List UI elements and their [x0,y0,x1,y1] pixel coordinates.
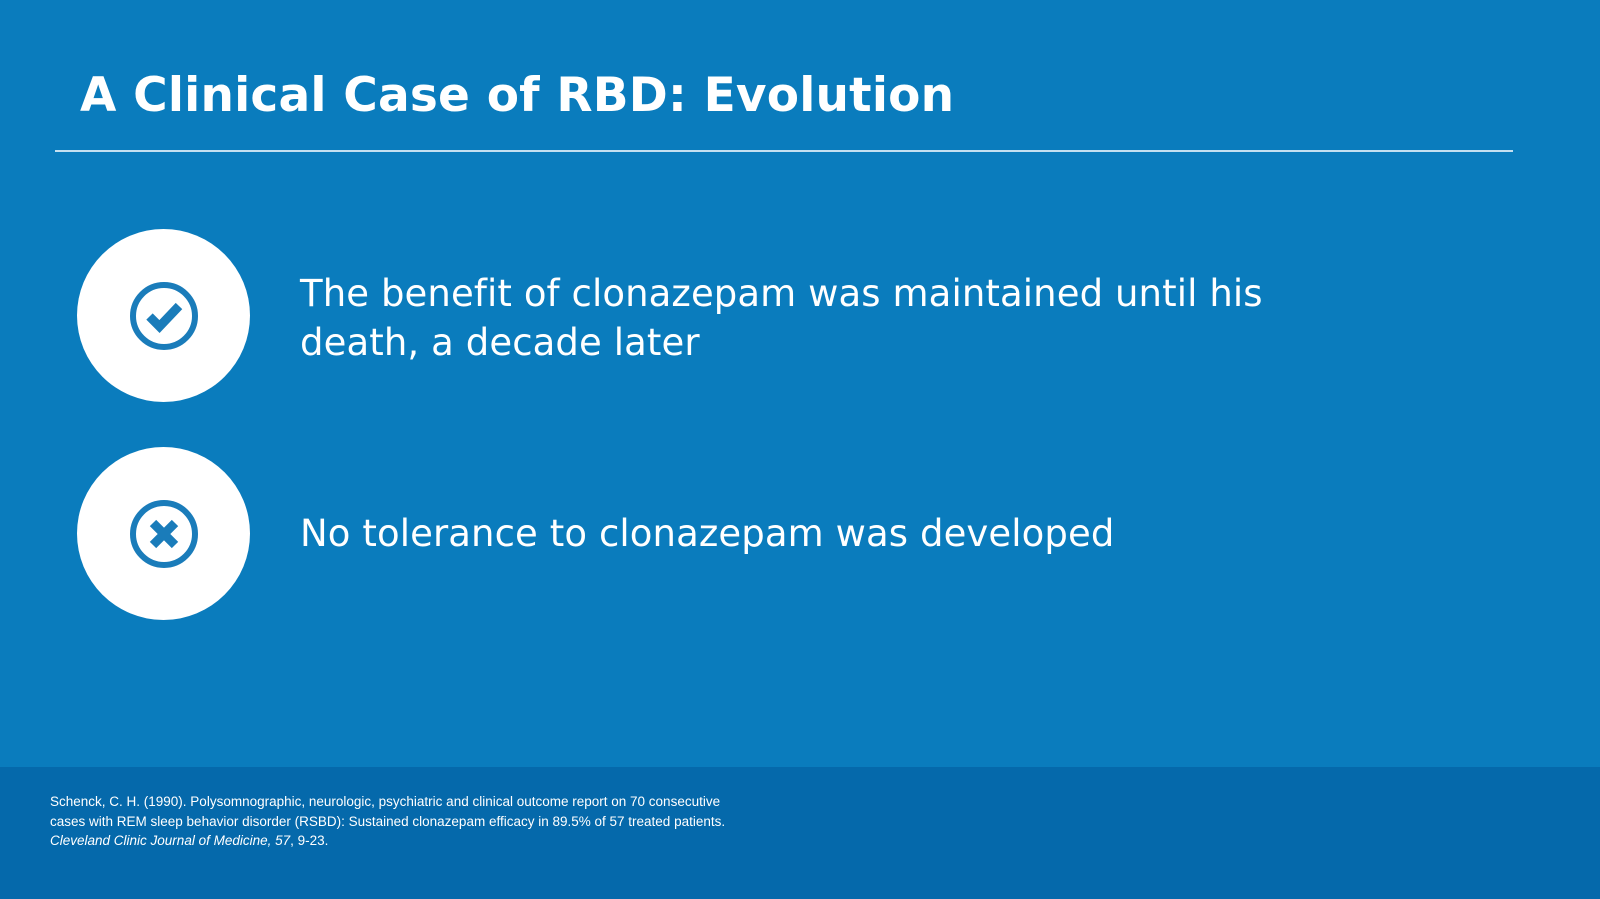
citation-journal: Cleveland Clinic Journal of Medicine, 57 [50,833,290,848]
bullet-list: The benefit of clonazepam was maintained… [0,0,1600,760]
list-item-label: No tolerance to clonazepam was developed [300,447,1300,558]
x-circle-badge [77,447,250,620]
citation-part-2: , 9-23. [290,833,328,848]
list-item: The benefit of clonazepam was maintained… [0,229,1400,402]
check-circle-badge [77,229,250,402]
citation-part-1: Schenck, C. H. (1990). Polysomnographic,… [50,794,725,829]
citation-text: Schenck, C. H. (1990). Polysomnographic,… [50,792,750,851]
check-circle-icon [127,279,201,353]
footer-band: Schenck, C. H. (1990). Polysomnographic,… [0,767,1600,899]
x-circle-icon [127,497,201,571]
slide: A Clinical Case of RBD: Evolution The be… [0,0,1600,899]
list-item-label: The benefit of clonazepam was maintained… [300,229,1300,367]
list-item: No tolerance to clonazepam was developed [0,447,1400,620]
